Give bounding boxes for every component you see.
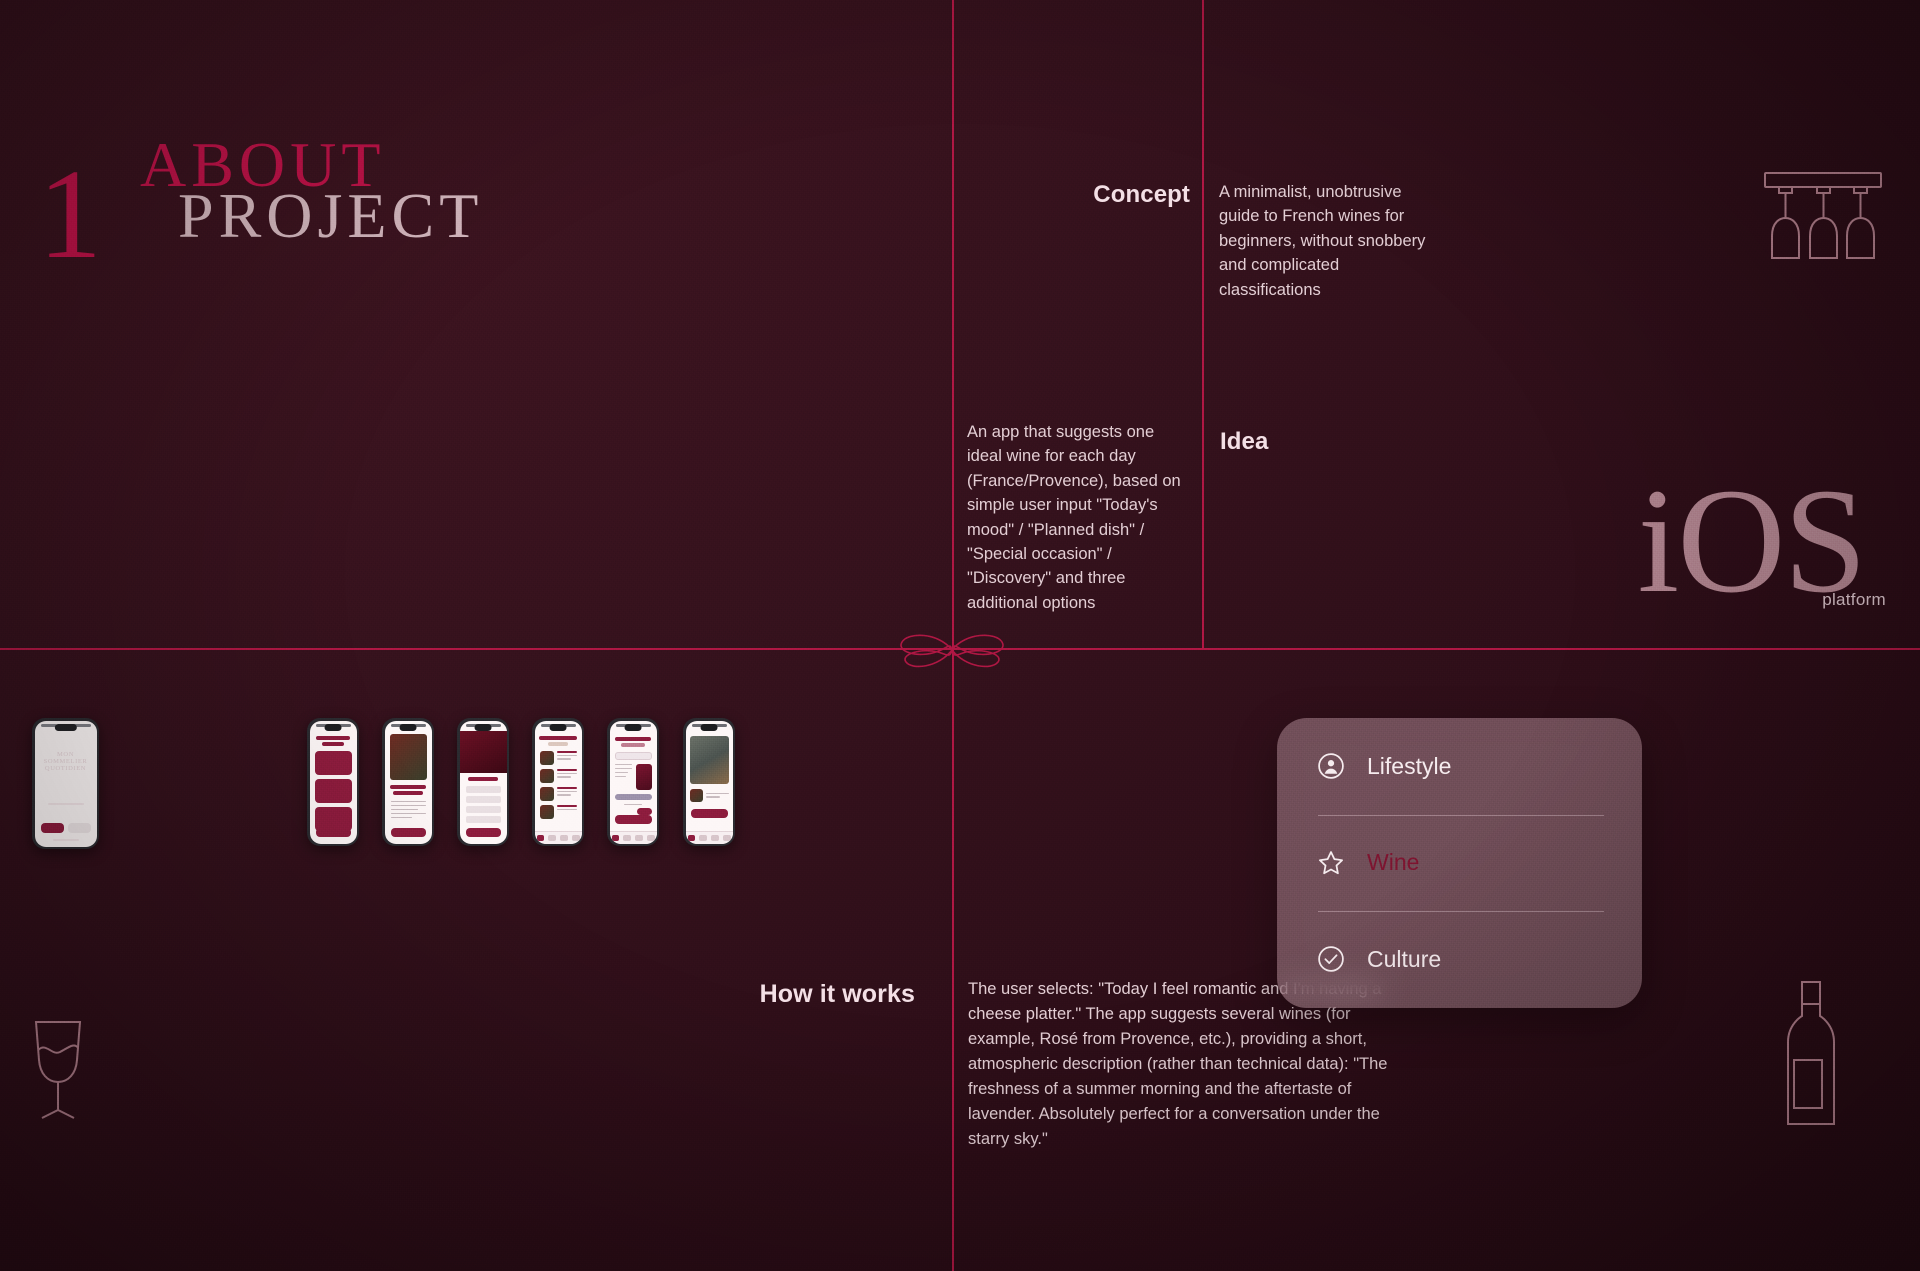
phone-notch: [550, 724, 567, 731]
how-it-works-label: How it works: [735, 980, 915, 1009]
concept-label: Concept: [1068, 181, 1190, 209]
quiz-option[interactable]: [315, 779, 352, 803]
splash-title-line: SOMMELIER: [35, 758, 97, 765]
hanging-wine-glasses-icon: [1762, 170, 1884, 262]
category-menu-card[interactable]: Lifestyle Wine Culture: [1277, 718, 1642, 1008]
star-outline-icon: [1317, 849, 1345, 877]
splash-secondary-button[interactable]: [68, 823, 91, 833]
quiz-submit-button[interactable]: [316, 828, 351, 837]
guide-line-vertical-left: [952, 0, 954, 648]
menu-item-label: Lifestyle: [1367, 753, 1451, 780]
quiz-option[interactable]: [315, 807, 352, 831]
page-title-line-project: PROJECT: [178, 184, 483, 248]
list-item[interactable]: [540, 751, 577, 765]
recipe-hero-image: [690, 736, 729, 784]
detail-hero-image: [460, 731, 507, 773]
pairing-cta-button[interactable]: [615, 815, 652, 824]
wine-thumbnail: [636, 764, 652, 790]
tab-bar[interactable]: [535, 831, 582, 844]
menu-item-wine[interactable]: Wine: [1277, 815, 1642, 912]
progress-slider[interactable]: [615, 794, 652, 800]
screen-wine-detail: [457, 718, 509, 846]
search-input[interactable]: [615, 752, 652, 760]
section-numeral: 1: [38, 150, 102, 278]
screen-recipe: [683, 718, 735, 846]
list-item[interactable]: [540, 805, 577, 819]
article-hero-image: [390, 734, 427, 780]
slide-canvas: 1 ABOUT PROJECT Concept A minimalist, un…: [0, 0, 1920, 1271]
screen-pairing: [607, 718, 659, 846]
add-to-list-button[interactable]: [691, 809, 728, 818]
screen-quiz-intro: [307, 718, 359, 846]
phone-notch: [54, 724, 76, 731]
screen-today-pick: [532, 718, 584, 846]
idea-body: An app that suggests one ideal wine for …: [967, 420, 1185, 615]
menu-item-label: Wine: [1367, 849, 1419, 876]
quiz-option[interactable]: [315, 751, 352, 775]
phone-notch: [325, 724, 342, 731]
app-splash-screen: MON SOMMELIER QUOTIDIEN: [32, 718, 99, 849]
check-circle-icon: [1317, 945, 1345, 973]
menu-item-culture[interactable]: Culture: [1277, 911, 1642, 1008]
splash-title-line: QUOTIDIEN: [35, 765, 97, 772]
wine-bottle-icon: [1772, 978, 1850, 1128]
platform-caption: platform: [1822, 590, 1886, 610]
menu-item-lifestyle[interactable]: Lifestyle: [1277, 718, 1642, 815]
read-more-button[interactable]: [391, 828, 426, 837]
guide-line-vertical-right: [1202, 0, 1204, 648]
list-item[interactable]: [540, 787, 577, 801]
tab-bar[interactable]: [686, 831, 733, 844]
phone-notch: [475, 724, 492, 731]
detail-cta-button[interactable]: [466, 828, 501, 837]
guide-line-vertical-left-lower: [952, 648, 954, 1271]
person-circle-icon: [1317, 752, 1345, 780]
idea-label: Idea: [1220, 428, 1268, 456]
tab-bar[interactable]: [610, 831, 657, 844]
select-button[interactable]: [637, 808, 652, 815]
menu-item-label: Culture: [1367, 946, 1441, 973]
wine-glass-icon: [22, 1012, 94, 1122]
screen-wine-story: [382, 718, 434, 846]
flourish-ornament-icon: [888, 622, 1016, 678]
phone-notch: [400, 724, 417, 731]
splash-title-line: MON: [35, 751, 97, 758]
list-item[interactable]: [690, 789, 729, 802]
phone-notch: [625, 724, 642, 731]
phone-notch: [701, 724, 718, 731]
splash-primary-button[interactable]: [41, 823, 64, 833]
list-item[interactable]: [540, 769, 577, 783]
concept-body: A minimalist, unobtrusive guide to Frenc…: [1219, 180, 1444, 302]
